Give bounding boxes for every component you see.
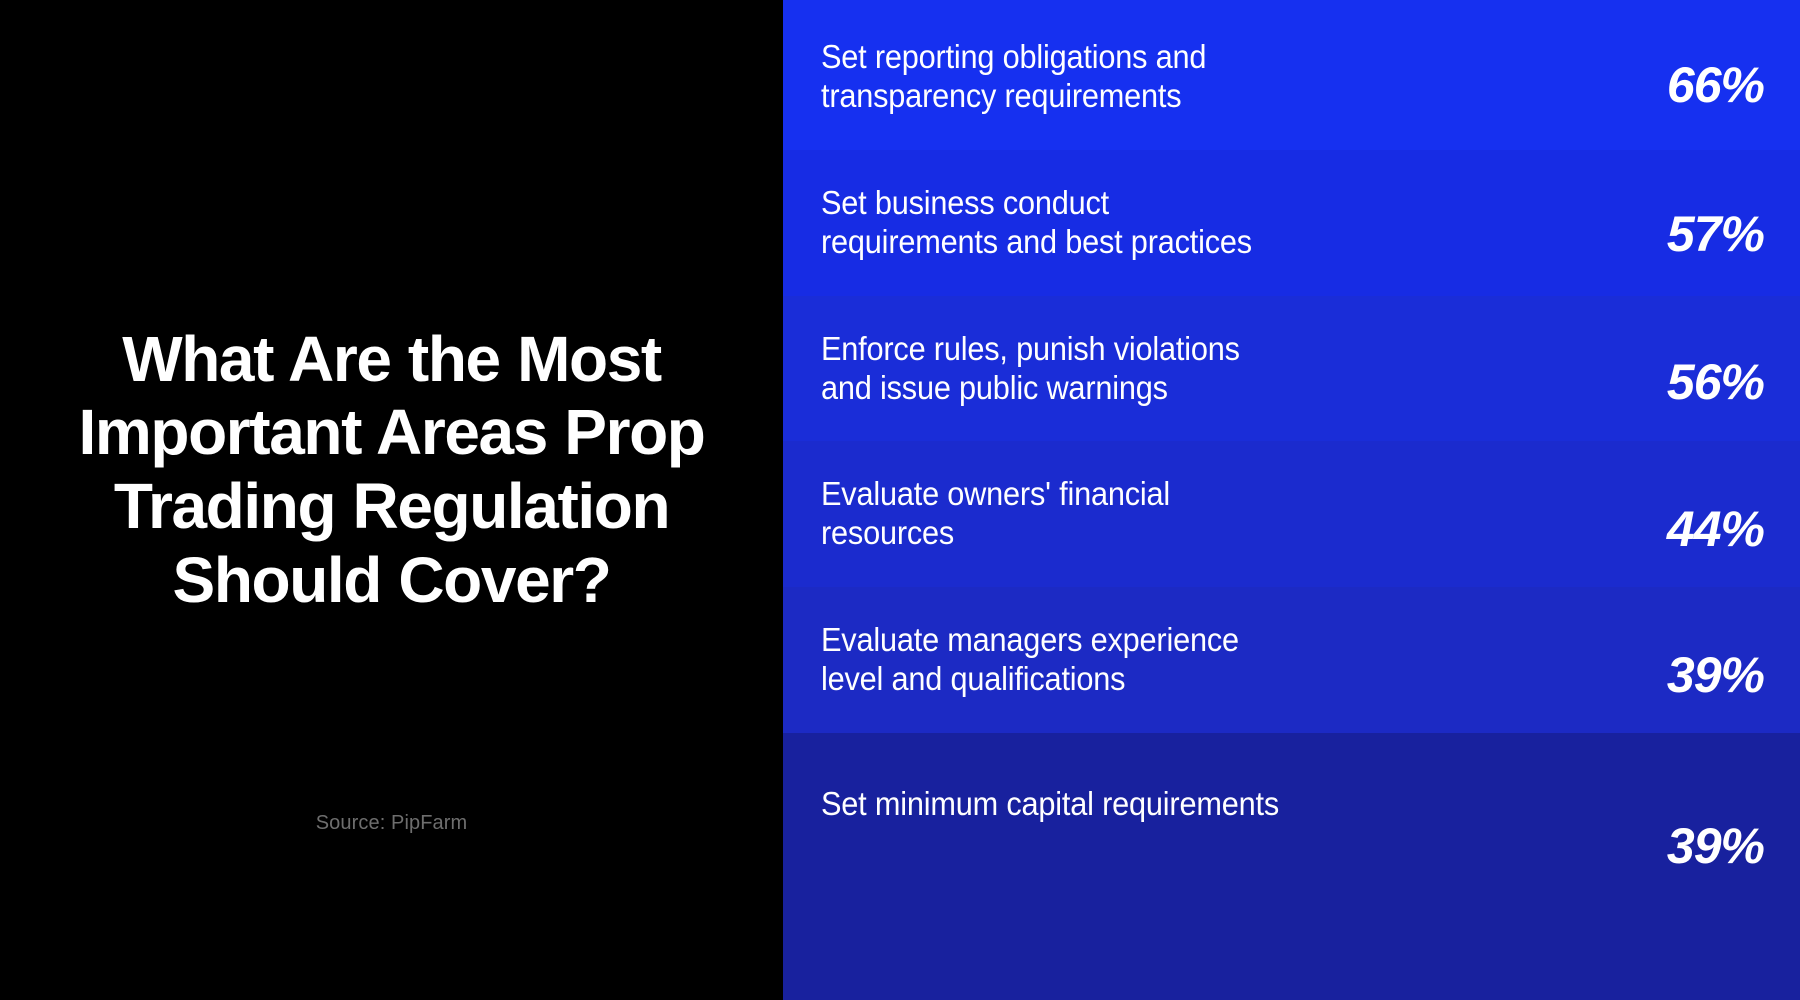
stats-panel: Set reporting obligations and transparen…: [783, 0, 1800, 1000]
stat-label-line: requirements and best practices: [821, 223, 1252, 260]
stat-row: Set reporting obligations and transparen…: [783, 0, 1800, 150]
stat-row: Set business conduct requirements and be…: [783, 150, 1800, 296]
stat-label-line: transparency requirements: [821, 77, 1181, 114]
stat-value: 66%: [1614, 60, 1764, 110]
stat-label-line: and issue public warnings: [821, 369, 1168, 406]
stat-label: Enforce rules, punish violations and iss…: [821, 330, 1558, 408]
stat-row: Evaluate owners' financial resources 44%: [783, 441, 1800, 587]
stat-label: Set minimum capital requirements: [821, 775, 1558, 824]
infographic-root: What Are the Most Important Areas Prop T…: [0, 0, 1800, 1000]
stat-value: 39%: [1614, 650, 1764, 700]
title-panel: What Are the Most Important Areas Prop T…: [0, 0, 783, 1000]
stat-value: 39%: [1614, 821, 1764, 871]
stat-row: Evaluate managers experience level and q…: [783, 587, 1800, 733]
stat-label-line: Enforce rules, punish violations: [821, 330, 1240, 367]
page-title: What Are the Most Important Areas Prop T…: [62, 323, 722, 617]
stat-label-line: level and qualifications: [821, 660, 1125, 697]
stat-label-line: Set minimum capital requirements: [821, 785, 1279, 822]
stat-label-line: Set business conduct: [821, 184, 1109, 221]
stat-value: 57%: [1614, 209, 1764, 259]
stat-label: Evaluate owners' financial resources: [821, 475, 1558, 553]
stat-label-line: Evaluate owners' financial: [821, 475, 1170, 512]
stat-value: 44%: [1614, 504, 1764, 554]
stat-label-line: Set reporting obligations and: [821, 38, 1206, 75]
source-attribution: Source: PipFarm: [0, 812, 783, 835]
stat-label: Evaluate managers experience level and q…: [821, 621, 1558, 699]
stat-row: Enforce rules, punish violations and iss…: [783, 296, 1800, 441]
title-block: What Are the Most Important Areas Prop T…: [62, 323, 722, 617]
stat-label: Set business conduct requirements and be…: [821, 184, 1558, 262]
stat-label-line: Evaluate managers experience: [821, 621, 1239, 658]
stat-value: 56%: [1614, 357, 1764, 407]
stat-row: Set minimum capital requirements 39%: [783, 733, 1800, 1000]
stat-label-line: resources: [821, 514, 954, 551]
stat-label: Set reporting obligations and transparen…: [821, 38, 1558, 116]
